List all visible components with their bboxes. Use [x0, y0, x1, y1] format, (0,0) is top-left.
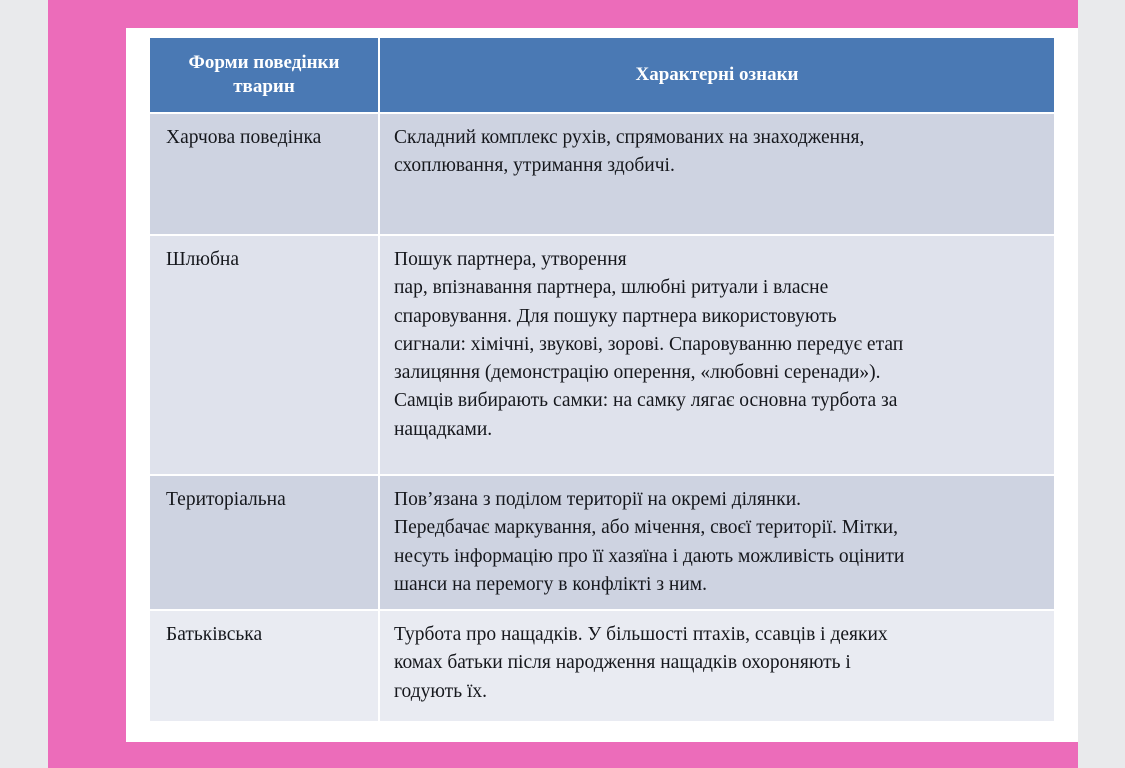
cell-text-line: Пошук партнера, утворення	[394, 246, 1042, 274]
table-body: Харчова поведінка Складний комплекс рухі…	[150, 114, 1054, 721]
cell-text-line: Самців вибирають самки: на самку лягає о…	[394, 387, 1042, 415]
animal-behaviour-table: Форми поведінки тварин Характерні ознаки…	[148, 36, 1056, 723]
cell-behaviour-form: Харчова поведінка	[150, 114, 378, 234]
cell-text-line: схоплювання, утримання здобичі.	[394, 152, 1042, 180]
cell-text-line: залицяння (демонстрацію оперення, «любов…	[394, 359, 1042, 387]
cell-text-line: Передбачає маркування, або мічення, своє…	[394, 514, 1042, 542]
cell-text-line: нащадками.	[394, 416, 1042, 444]
cell-text-line: комах батьки після народження нащадків о…	[394, 649, 1042, 677]
cell-text-line: Турбота про нащадків. У більшості птахів…	[394, 621, 1042, 649]
cell-text-line: сигнали: хімічні, звукові, зорові. Спаро…	[394, 331, 1042, 359]
cell-text-line: Пов’язана з поділом території на окремі …	[394, 486, 1042, 514]
cell-behaviour-signs: Пов’язана з поділом території на окремі …	[380, 476, 1054, 609]
cell-behaviour-form: Батьківська	[150, 611, 378, 721]
table-row: Територіальна Пов’язана з поділом терито…	[150, 476, 1054, 609]
cell-text-line: несуть інформацію про її хазяїна і дають…	[394, 543, 1042, 571]
table-header: Форми поведінки тварин Характерні ознаки	[150, 38, 1054, 112]
slide-page: Форми поведінки тварин Характерні ознаки…	[0, 0, 1125, 768]
cell-text-line: Складний комплекс рухів, спрямованих на …	[394, 124, 1042, 152]
cell-behaviour-form: Територіальна	[150, 476, 378, 609]
cell-text-line: годують їх.	[394, 678, 1042, 706]
table-row: Батьківська Турбота про нащадків. У біль…	[150, 611, 1054, 721]
cell-behaviour-signs: Турбота про нащадків. У більшості птахів…	[380, 611, 1054, 721]
cell-behaviour-signs: Складний комплекс рухів, спрямованих на …	[380, 114, 1054, 234]
column-header-form: Форми поведінки тварин	[150, 38, 378, 112]
column-header-signs: Характерні ознаки	[380, 38, 1054, 112]
table-header-row: Форми поведінки тварин Характерні ознаки	[150, 38, 1054, 112]
cell-behaviour-form: Шлюбна	[150, 236, 378, 474]
cell-text-line: пар, впізнавання партнера, шлюбні ритуал…	[394, 274, 1042, 302]
table-row: Харчова поведінка Складний комплекс рухі…	[150, 114, 1054, 234]
cell-text-line: шанси на перемогу в конфлікті з ним.	[394, 571, 1042, 599]
cell-text-line: спаровування. Для пошуку партнера викори…	[394, 303, 1042, 331]
table-row: Шлюбна Пошук партнера, утворенняпар, впі…	[150, 236, 1054, 474]
slide-canvas: Форми поведінки тварин Характерні ознаки…	[126, 28, 1078, 742]
right-page-gutter	[1078, 0, 1125, 768]
cell-behaviour-signs: Пошук партнера, утворенняпар, впізнаванн…	[380, 236, 1054, 474]
left-page-gutter	[0, 0, 48, 768]
